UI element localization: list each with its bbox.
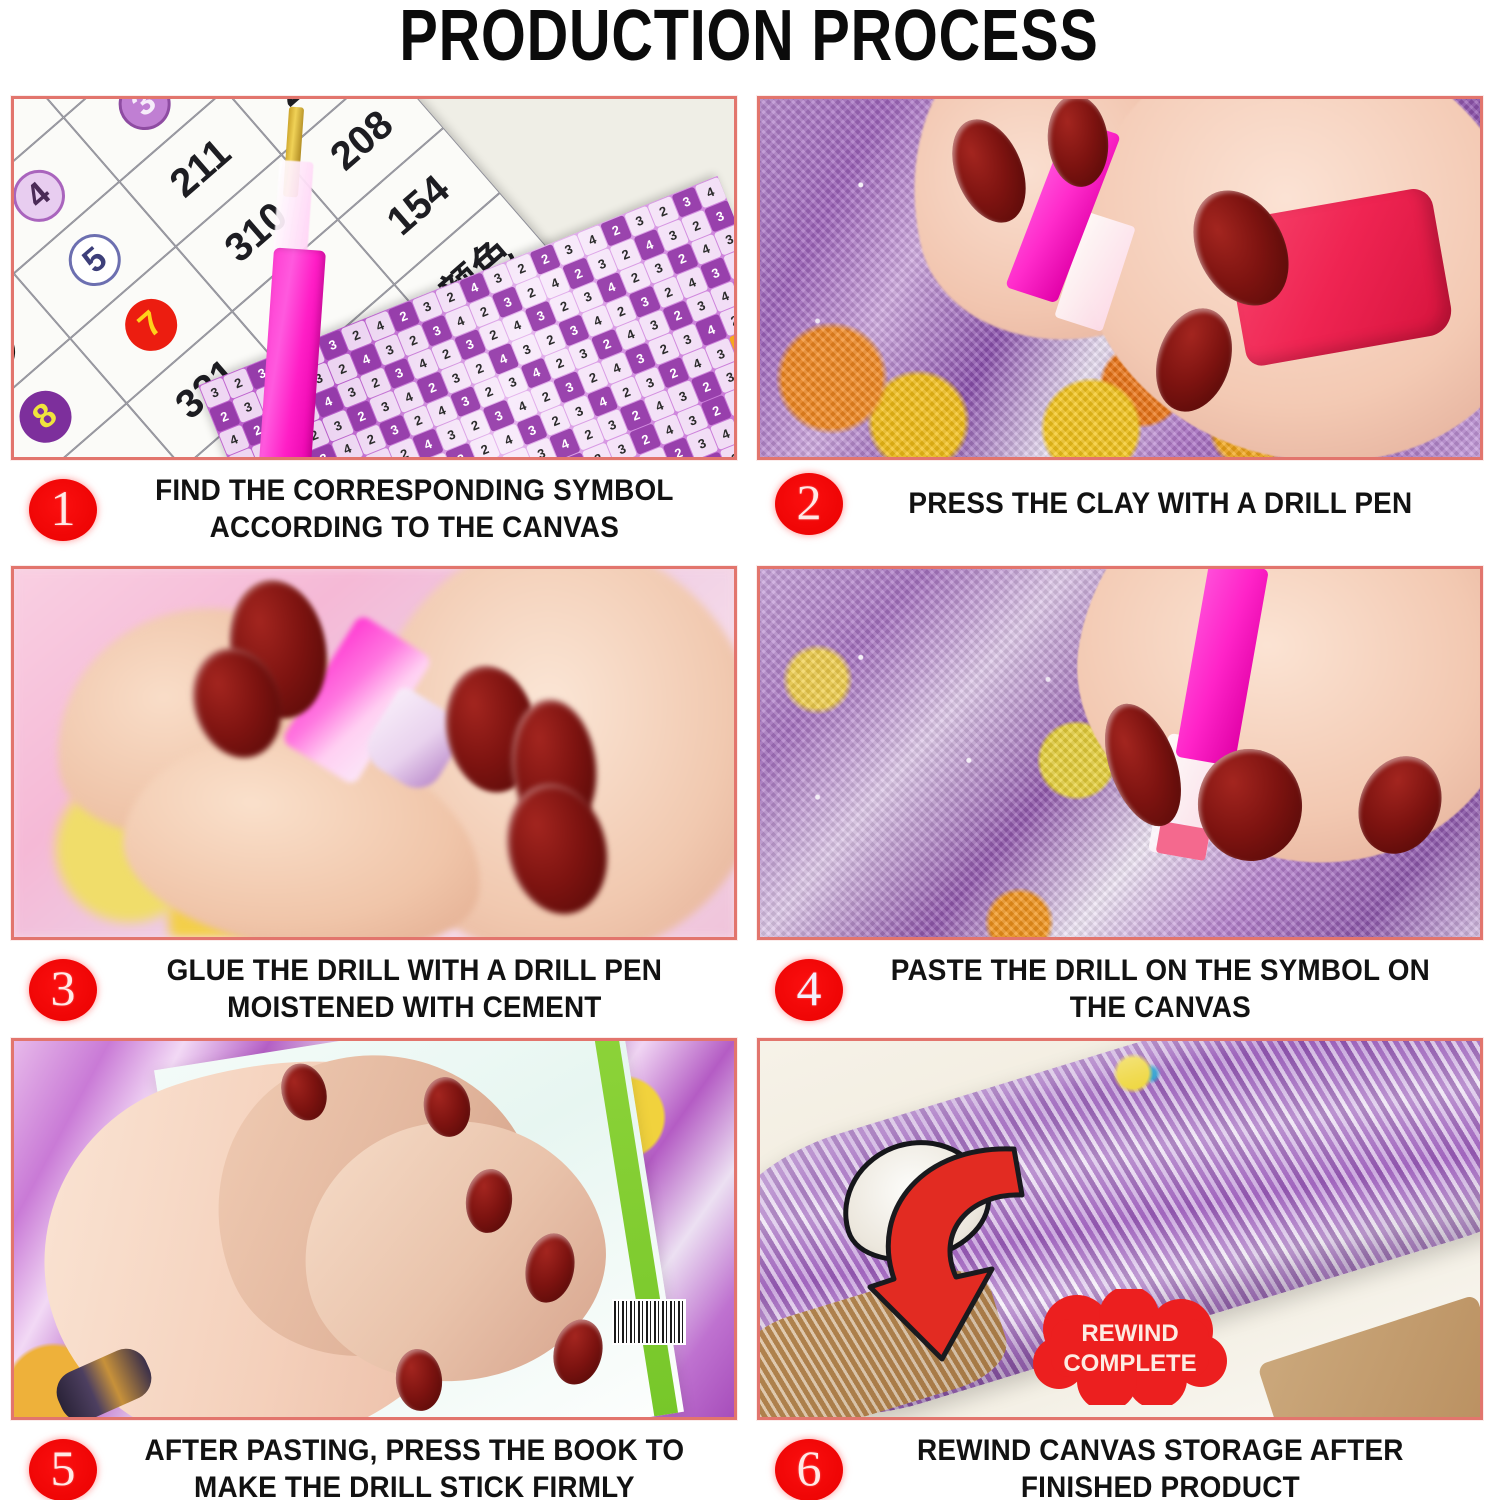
step-4-caption-text: PASTE THE DRILL ON THE SYMBOL ON THE CAN… <box>869 953 1460 1026</box>
step-3-caption: 3 GLUE THE DRILL WITH A DRILL PEN MOISTE… <box>11 940 737 1034</box>
step-1-photo-frame: 06 05 04 03 27 4 3 2 6 5 211 <box>11 96 737 460</box>
step-5-caption-text: AFTER PASTING, PRESS THE BOOK TO MAKE TH… <box>123 1433 714 1500</box>
step-6-cell: REWIND COMPLETE 6 REWIND CANVAS STORAGE … <box>757 1038 1483 1500</box>
step-6-caption: 6 REWIND CANVAS STORAGE AFTER FINISHED P… <box>757 1420 1483 1500</box>
steps-row-2: 3 GLUE THE DRILL WITH A DRILL PEN MOISTE… <box>0 566 1498 1038</box>
step-3-number-badge: 3 <box>29 959 97 1021</box>
step-3-photo-frame <box>11 566 737 940</box>
legend-chart-with-drill-pen-photo: 06 05 04 03 27 4 3 2 6 5 211 <box>14 99 734 457</box>
hands-pressing-clay-with-drill-pen-photo <box>760 99 1480 457</box>
step-4-caption: 4 PASTE THE DRILL ON THE SYMBOL ON THE C… <box>757 940 1483 1034</box>
step-5-caption: 5 AFTER PASTING, PRESS THE BOOK TO MAKE … <box>11 1420 737 1500</box>
step-3-caption-text: GLUE THE DRILL WITH A DRILL PEN MOISTENE… <box>123 953 714 1026</box>
step-2-caption-text: PRESS THE CLAY WITH A DRILL PEN <box>869 486 1460 523</box>
step-2-caption: 2 PRESS THE CLAY WITH A DRILL PEN <box>757 460 1483 543</box>
rewind-complete-badge: REWIND COMPLETE <box>1025 1289 1235 1405</box>
step-6-photo-frame: REWIND COMPLETE <box>757 1038 1483 1420</box>
rolled-canvas-storage-photo: REWIND COMPLETE <box>760 1041 1480 1417</box>
legend-symbol-chip: 3 <box>108 99 181 140</box>
step-4-photo-frame <box>757 566 1483 940</box>
steps-row-3: 5 AFTER PASTING, PRESS THE BOOK TO MAKE … <box>0 1038 1498 1500</box>
step-6-number-badge: 6 <box>775 1439 843 1500</box>
badge-line-2: COMPLETE <box>1063 1350 1196 1377</box>
badge-line-1: REWIND <box>1081 1320 1178 1347</box>
step-3-cell: 3 GLUE THE DRILL WITH A DRILL PEN MOISTE… <box>11 566 737 1034</box>
step-1-caption-text: FIND THE CORRESPONDING SYMBOL ACCORDING … <box>123 473 714 546</box>
steps-row-1: 06 05 04 03 27 4 3 2 6 5 211 <box>0 96 1498 566</box>
step-4-cell: 4 PASTE THE DRILL ON THE SYMBOL ON THE C… <box>757 566 1483 1034</box>
step-2-number-badge: 2 <box>775 473 843 535</box>
hands-pressing-book-on-canvas-photo <box>14 1041 734 1417</box>
step-2-photo-frame <box>757 96 1483 460</box>
legend-symbol-chip: 8 <box>14 380 82 453</box>
step-1-number-badge: 1 <box>29 479 97 541</box>
step-6-caption-text: REWIND CANVAS STORAGE AFTER FINISHED PRO… <box>869 1433 1460 1500</box>
legend-symbol-chip: 5 <box>58 224 131 297</box>
steps-grid: 06 05 04 03 27 4 3 2 6 5 211 <box>0 96 1498 1500</box>
book-barcode <box>612 1299 686 1345</box>
step-4-number-badge: 4 <box>775 959 843 1021</box>
page-title: PRODUCTION PROCESS <box>150 0 1348 76</box>
step-5-cell: 5 AFTER PASTING, PRESS THE BOOK TO MAKE … <box>11 1038 737 1500</box>
production-process-infographic: PRODUCTION PROCESS 06 05 04 03 27 <box>0 0 1498 1500</box>
step-1-caption: 1 FIND THE CORRESPONDING SYMBOL ACCORDIN… <box>11 460 737 554</box>
step-1-cell: 06 05 04 03 27 4 3 2 6 5 211 <box>11 96 737 554</box>
legend-symbol-chip: 4 <box>14 159 75 232</box>
step-2-cell: 2 PRESS THE CLAY WITH A DRILL PEN <box>757 96 1483 543</box>
legend-symbol-chip: 7 <box>114 288 187 361</box>
step-5-photo-frame <box>11 1038 737 1420</box>
pasting-drill-onto-canvas-photo <box>760 569 1480 937</box>
step-5-number-badge: 5 <box>29 1439 97 1500</box>
fingers-holding-drill-pen-closeup-photo <box>14 569 734 937</box>
